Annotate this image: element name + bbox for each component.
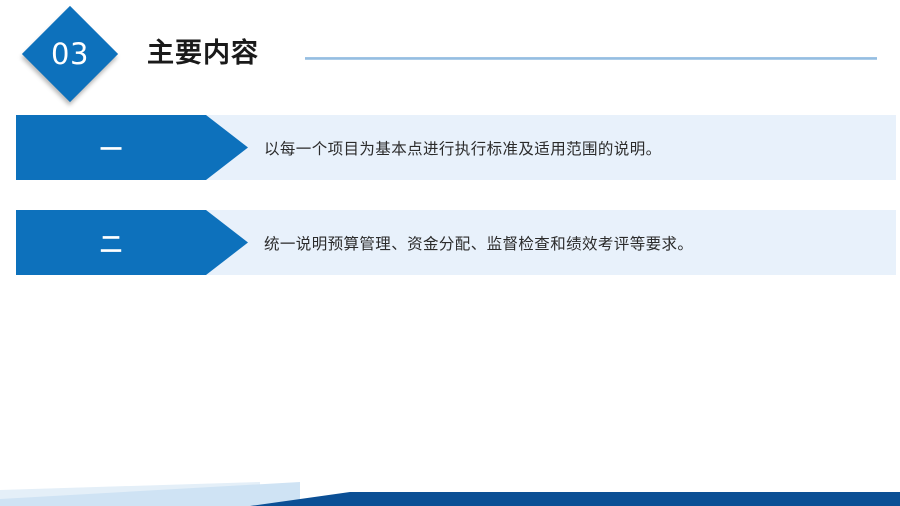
- content-row-text: 统一说明预算管理、资金分配、监督检查和绩效考评等要求。: [264, 210, 884, 275]
- content-row-index: 一: [16, 115, 206, 180]
- slide-header: 03 主要内容: [0, 0, 900, 100]
- slide-canvas: 03 主要内容 一 以每一个项目为基本点进行执行标准及适用范围的说明。 二 统一…: [0, 0, 900, 506]
- footer-layer-dark: [250, 492, 900, 506]
- footer-diagonal-shapes: [0, 460, 900, 506]
- content-row-index: 二: [16, 210, 206, 275]
- title-divider-line: [305, 57, 877, 60]
- page-title: 主要内容: [147, 31, 259, 70]
- content-row: 二 统一说明预算管理、资金分配、监督检查和绩效考评等要求。: [16, 210, 896, 275]
- content-row: 一 以每一个项目为基本点进行执行标准及适用范围的说明。: [16, 115, 896, 180]
- content-row-text: 以每一个项目为基本点进行执行标准及适用范围的说明。: [264, 115, 884, 180]
- section-number-label: 03: [22, 6, 118, 102]
- footer-decoration: [0, 460, 900, 506]
- section-number-badge: 03: [22, 6, 118, 102]
